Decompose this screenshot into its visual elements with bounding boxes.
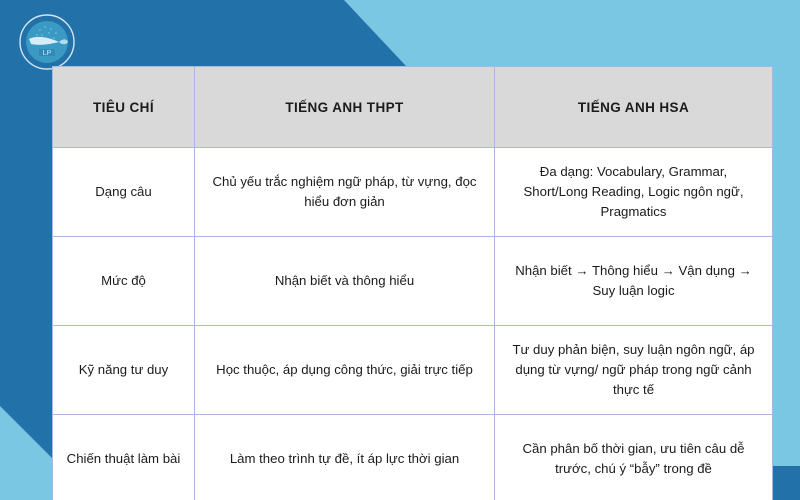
cell-criteria: Kỹ năng tư duy <box>53 326 195 415</box>
table-body: Dạng câu Chủ yếu trắc nghiệm ngữ pháp, t… <box>53 148 773 500</box>
cell-thpt: Học thuộc, áp dụng công thức, giải trực … <box>195 326 495 415</box>
comparison-table-container: TIÊU CHÍ TIẾNG ANH THPT TIẾNG ANH HSA Dạ… <box>52 66 772 500</box>
logo-letters: LP <box>43 50 52 57</box>
column-header-criteria: TIÊU CHÍ <box>53 67 195 148</box>
cell-criteria: Mức độ <box>53 237 195 326</box>
cell-criteria: Chiến thuật làm bài <box>53 415 195 500</box>
cell-thpt: Nhận biết và thông hiểu <box>195 237 495 326</box>
cell-thpt: Làm theo trình tự đề, ít áp lực thời gia… <box>195 415 495 500</box>
cell-hsa: Cần phân bố thời gian, ưu tiên câu dễ tr… <box>495 415 773 500</box>
column-header-thpt: TIẾNG ANH THPT <box>195 67 495 148</box>
cell-thpt: Chủ yếu trắc nghiệm ngữ pháp, từ vựng, đ… <box>195 148 495 237</box>
column-header-hsa: TIẾNG ANH HSA <box>495 67 773 148</box>
table-header-row-group: TIÊU CHÍ TIẾNG ANH THPT TIẾNG ANH HSA <box>53 67 773 148</box>
table-header-row: TIÊU CHÍ TIẾNG ANH THPT TIẾNG ANH HSA <box>53 67 773 148</box>
cell-hsa: Tư duy phản biện, suy luận ngôn ngữ, áp … <box>495 326 773 415</box>
table-row: Kỹ năng tư duy Học thuộc, áp dụng công t… <box>53 326 773 415</box>
table-row: Chiến thuật làm bài Làm theo trình tự đề… <box>53 415 773 500</box>
brand-logo: LP <box>18 13 76 71</box>
table-row: Dạng câu Chủ yếu trắc nghiệm ngữ pháp, t… <box>53 148 773 237</box>
comparison-table: TIÊU CHÍ TIẾNG ANH THPT TIẾNG ANH HSA Dạ… <box>52 66 773 500</box>
whale-emblem-logo: LP <box>18 13 76 71</box>
slide-canvas: LP TIÊU CHÍ TIẾNG ANH THPT TIẾNG ANH HSA… <box>0 0 800 500</box>
cell-hsa: Nhận biết → Thông hiểu → Vận dụng → Suy … <box>495 237 773 326</box>
table-row: Mức độ Nhận biết và thông hiểu Nhận biết… <box>53 237 773 326</box>
cell-hsa: Đa dạng: Vocabulary, Grammar, Short/Long… <box>495 148 773 237</box>
cell-criteria: Dạng câu <box>53 148 195 237</box>
